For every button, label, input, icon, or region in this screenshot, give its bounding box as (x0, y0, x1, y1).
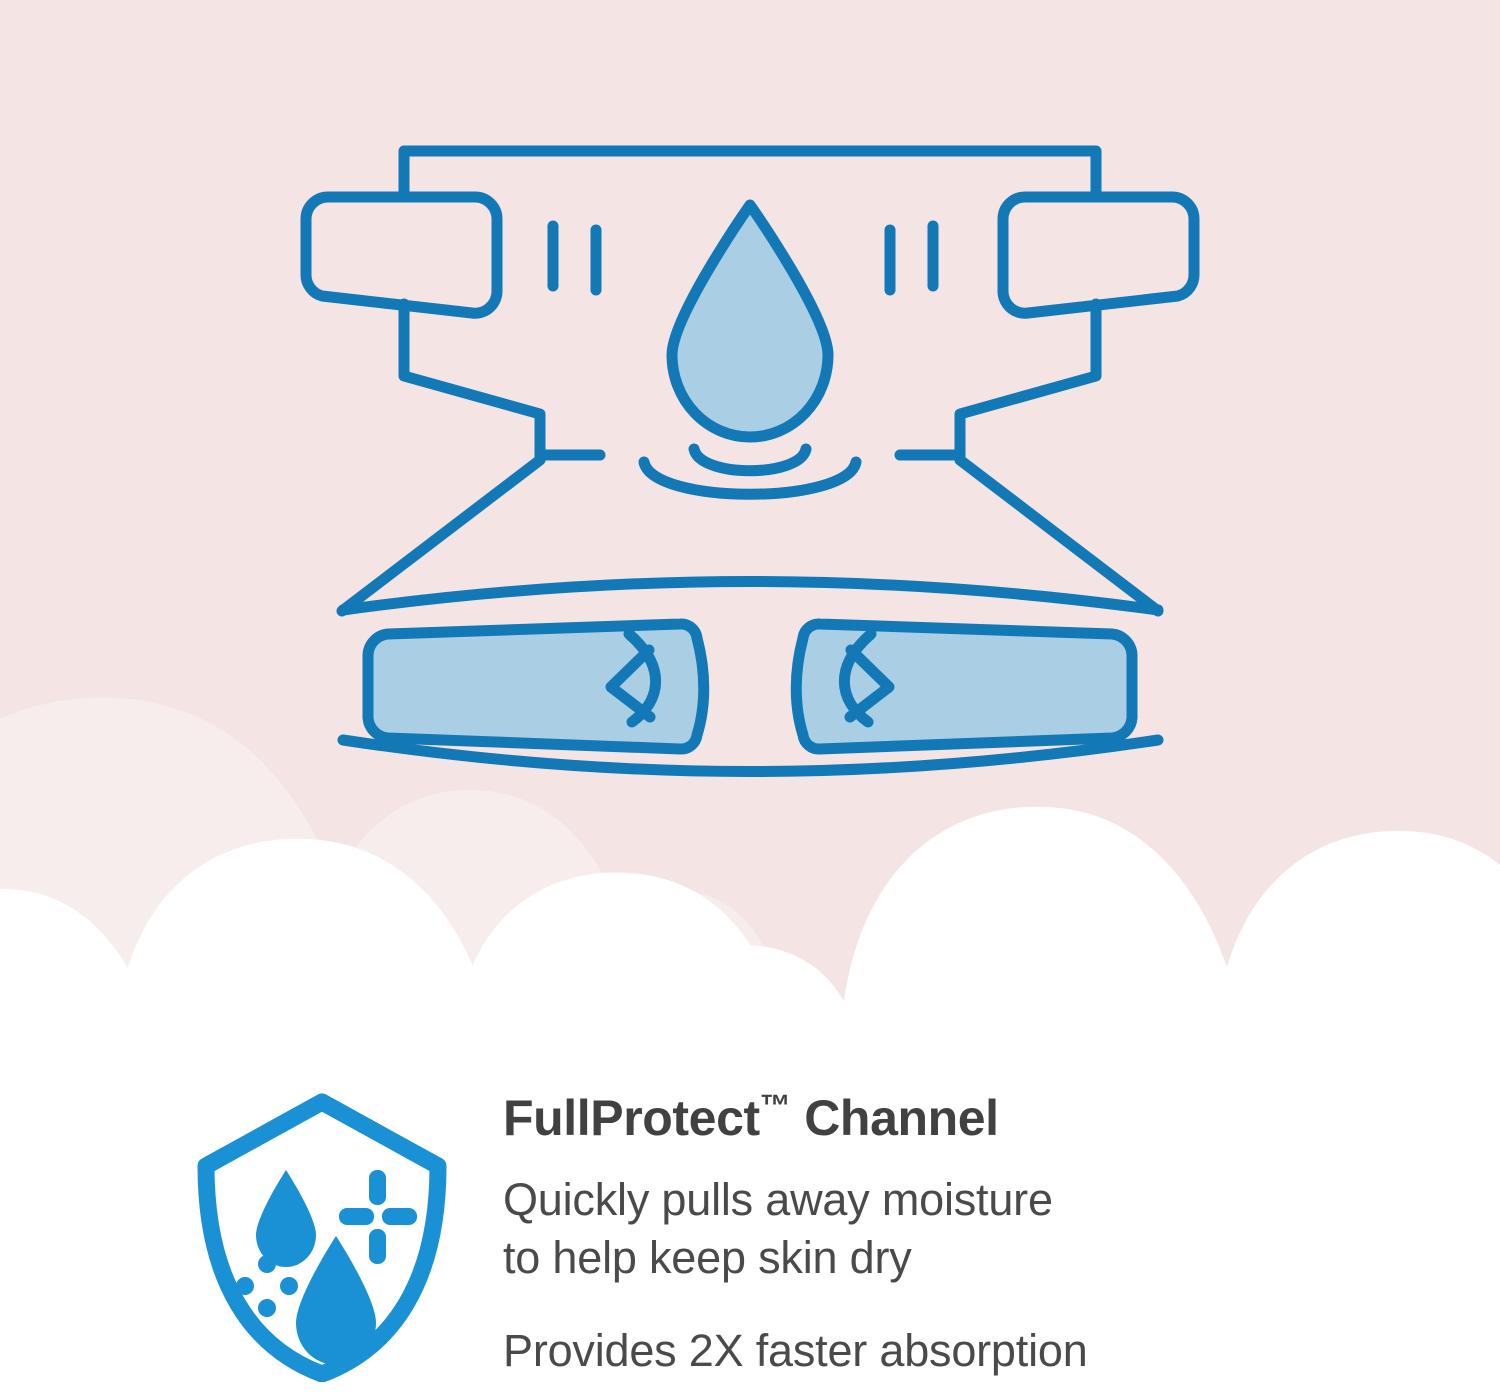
feature-description-line-1: Quickly pulls away moisture (503, 1174, 1053, 1225)
shield-icon-wrapper (196, 1092, 448, 1382)
droplet-small-icon (256, 1170, 316, 1267)
feature-block: FullProtect™ Channel Quickly pulls away … (0, 1060, 1500, 1394)
feature-title-suffix: Channel (791, 1090, 999, 1146)
left-absorbent-channel (368, 624, 704, 749)
feature-claim: Provides 2X faster absorption (503, 1322, 1463, 1381)
hero-illustration-panel (0, 0, 1500, 1060)
feature-text-column: FullProtect™ Channel Quickly pulls away … (503, 1090, 1463, 1380)
feature-title-brand: FullProtect (503, 1090, 760, 1146)
feature-description-line-2: to help keep skin dry (503, 1232, 912, 1283)
feature-title: FullProtect™ Channel (503, 1090, 1463, 1145)
product-feature-page: FullProtect™ Channel Quickly pulls away … (0, 0, 1500, 1394)
trademark-symbol: ™ (760, 1088, 791, 1123)
feature-description: Quickly pulls away moistureto help keep … (503, 1171, 1463, 1288)
shield-moisture-icon (196, 1092, 448, 1382)
sparkle-large-icon (339, 1170, 417, 1264)
right-absorbent-channel (796, 624, 1132, 749)
diaper-absorption-illustration (0, 0, 1500, 1060)
